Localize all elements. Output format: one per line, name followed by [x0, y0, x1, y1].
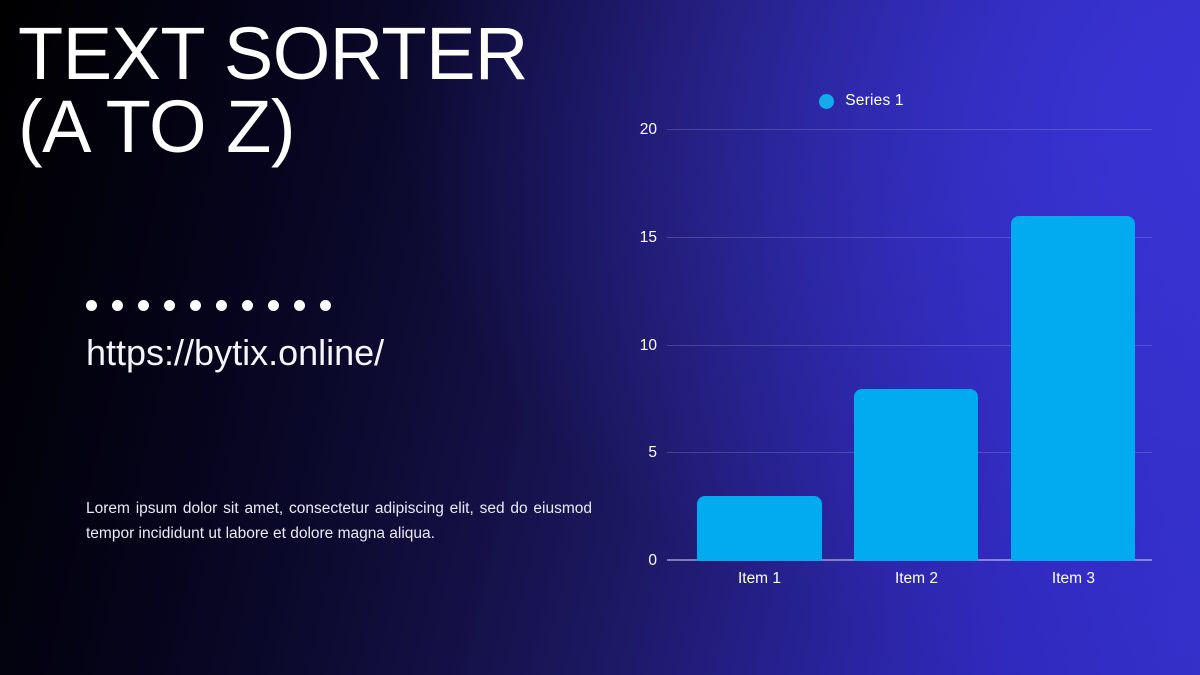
x-axis-tick-label: Item 2 — [838, 570, 995, 588]
chart-bars: Item 1Item 2Item 3 — [681, 130, 1152, 561]
dot-icon — [190, 300, 201, 311]
y-axis-tick-label: 20 — [640, 121, 657, 139]
chart-bar[interactable] — [1011, 216, 1135, 561]
dot-icon — [86, 300, 97, 311]
x-axis-tick-label: Item 1 — [681, 570, 838, 588]
dot-icon — [216, 300, 227, 311]
legend-marker-icon — [819, 94, 834, 109]
dot-icon — [138, 300, 149, 311]
slide-canvas: TEXT SORTER (A TO Z) https://bytix.onlin… — [0, 0, 1200, 675]
x-axis-tick-label: Item 3 — [995, 570, 1152, 588]
y-axis-tick-label: 5 — [648, 444, 657, 462]
y-axis-tick-label: 0 — [648, 552, 657, 570]
page-title: TEXT SORTER (A TO Z) — [18, 18, 608, 163]
chart-bar-group: Item 3 — [995, 130, 1152, 561]
dot-icon — [112, 300, 123, 311]
y-axis-tick-label: 10 — [640, 337, 657, 355]
chart-bar[interactable] — [854, 389, 978, 561]
body-paragraph: Lorem ipsum dolor sit amet, consectetur … — [86, 496, 592, 546]
chart-bar-group: Item 1 — [681, 130, 838, 561]
dot-icon — [268, 300, 279, 311]
dot-icon — [242, 300, 253, 311]
dot-icon — [164, 300, 175, 311]
y-axis-tick-label: 15 — [640, 229, 657, 247]
dot-icon — [320, 300, 331, 311]
website-url[interactable]: https://bytix.online/ — [86, 331, 384, 374]
dot-separator — [86, 300, 331, 311]
left-content-column: TEXT SORTER (A TO Z) https://bytix.onlin… — [0, 0, 615, 675]
chart-bar[interactable] — [697, 496, 821, 561]
dot-icon — [294, 300, 305, 311]
chart-legend: Series 1 — [615, 92, 1108, 110]
chart-plot-area: 05101520 Item 1Item 2Item 3 — [667, 130, 1152, 561]
legend-item-label[interactable]: Series 1 — [845, 92, 903, 110]
chart-bar-group: Item 2 — [838, 130, 995, 561]
bar-chart: Series 1 05101520 Item 1Item 2Item 3 — [615, 0, 1200, 675]
